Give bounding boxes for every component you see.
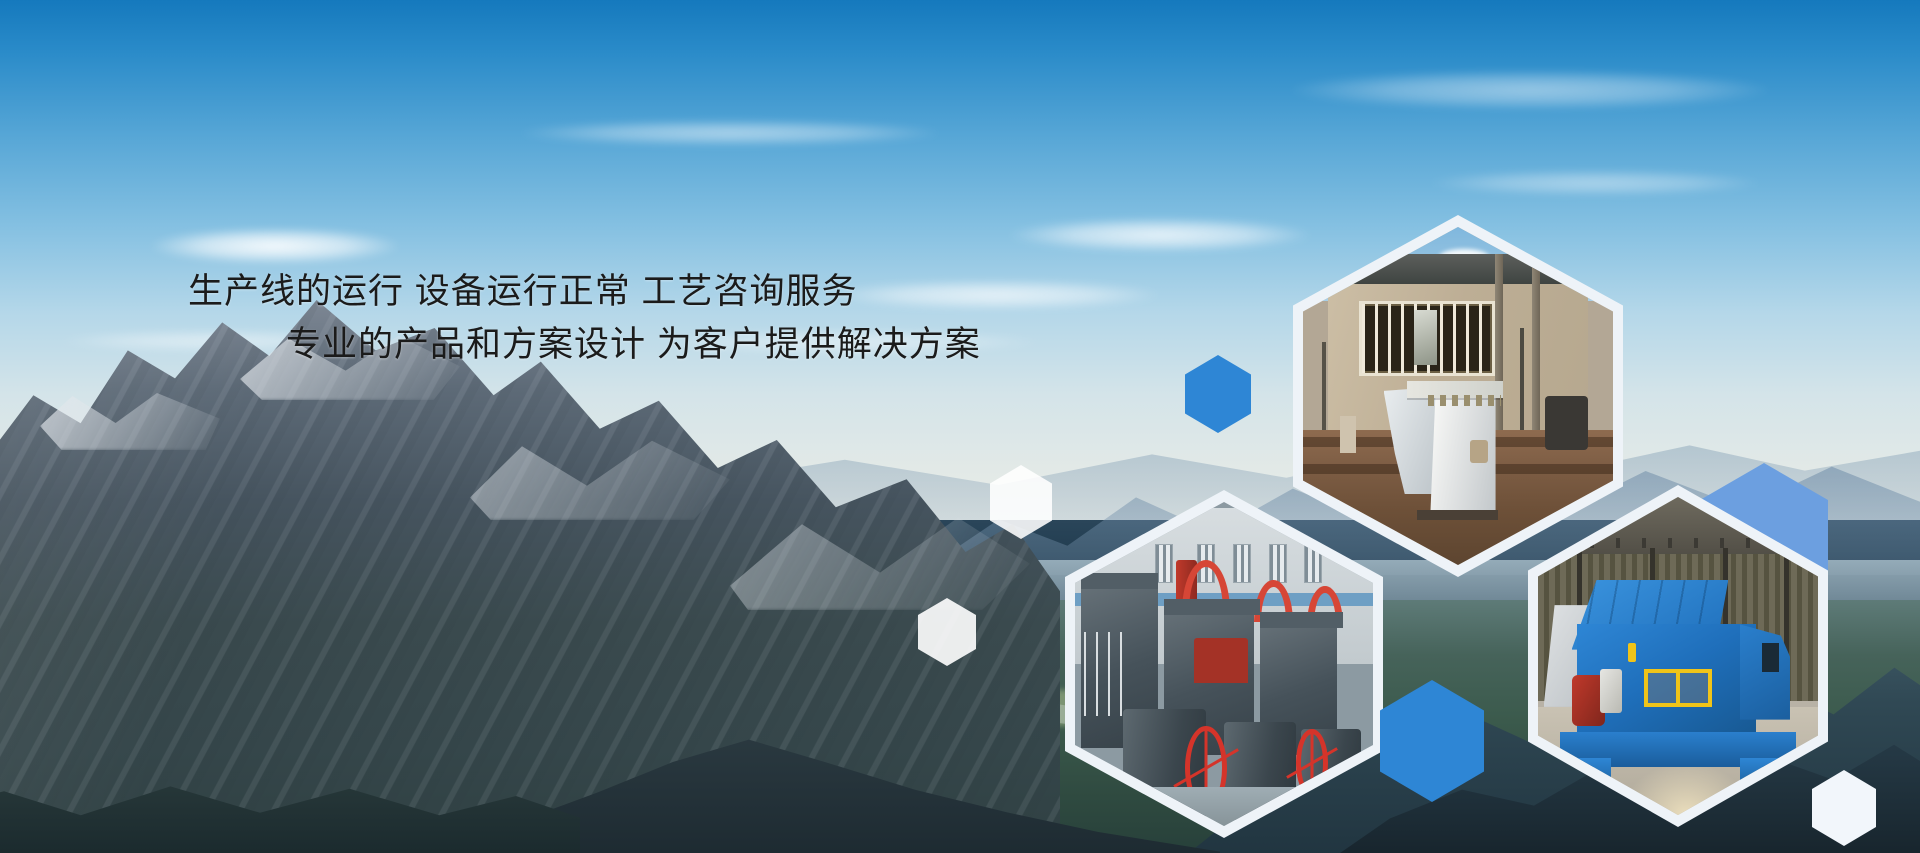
- cloud-wisp: [1430, 170, 1760, 196]
- headline-line-2: 专业的产品和方案设计 为客户提供解决方案: [188, 318, 1088, 371]
- photo-hex-ladle-image: [1303, 227, 1613, 565]
- headline-line-1: 生产线的运行 设备运行正常 工艺咨询服务: [188, 265, 1088, 318]
- cloud-wisp: [150, 228, 400, 264]
- headline-block: 生产线的运行 设备运行正常 工艺咨询服务 专业的产品和方案设计 为客户提供解决方…: [188, 265, 1088, 371]
- photo-hex-grey-machines-image: [1075, 502, 1373, 826]
- cloud-wisp: [1010, 218, 1310, 252]
- photo-hex-blue-shredder-image: [1538, 497, 1818, 815]
- cloud-wisp: [1290, 70, 1770, 110]
- hero-banner: 生产线的运行 设备运行正常 工艺咨询服务 专业的产品和方案设计 为客户提供解决方…: [0, 0, 1920, 853]
- cloud-wisp: [520, 120, 940, 146]
